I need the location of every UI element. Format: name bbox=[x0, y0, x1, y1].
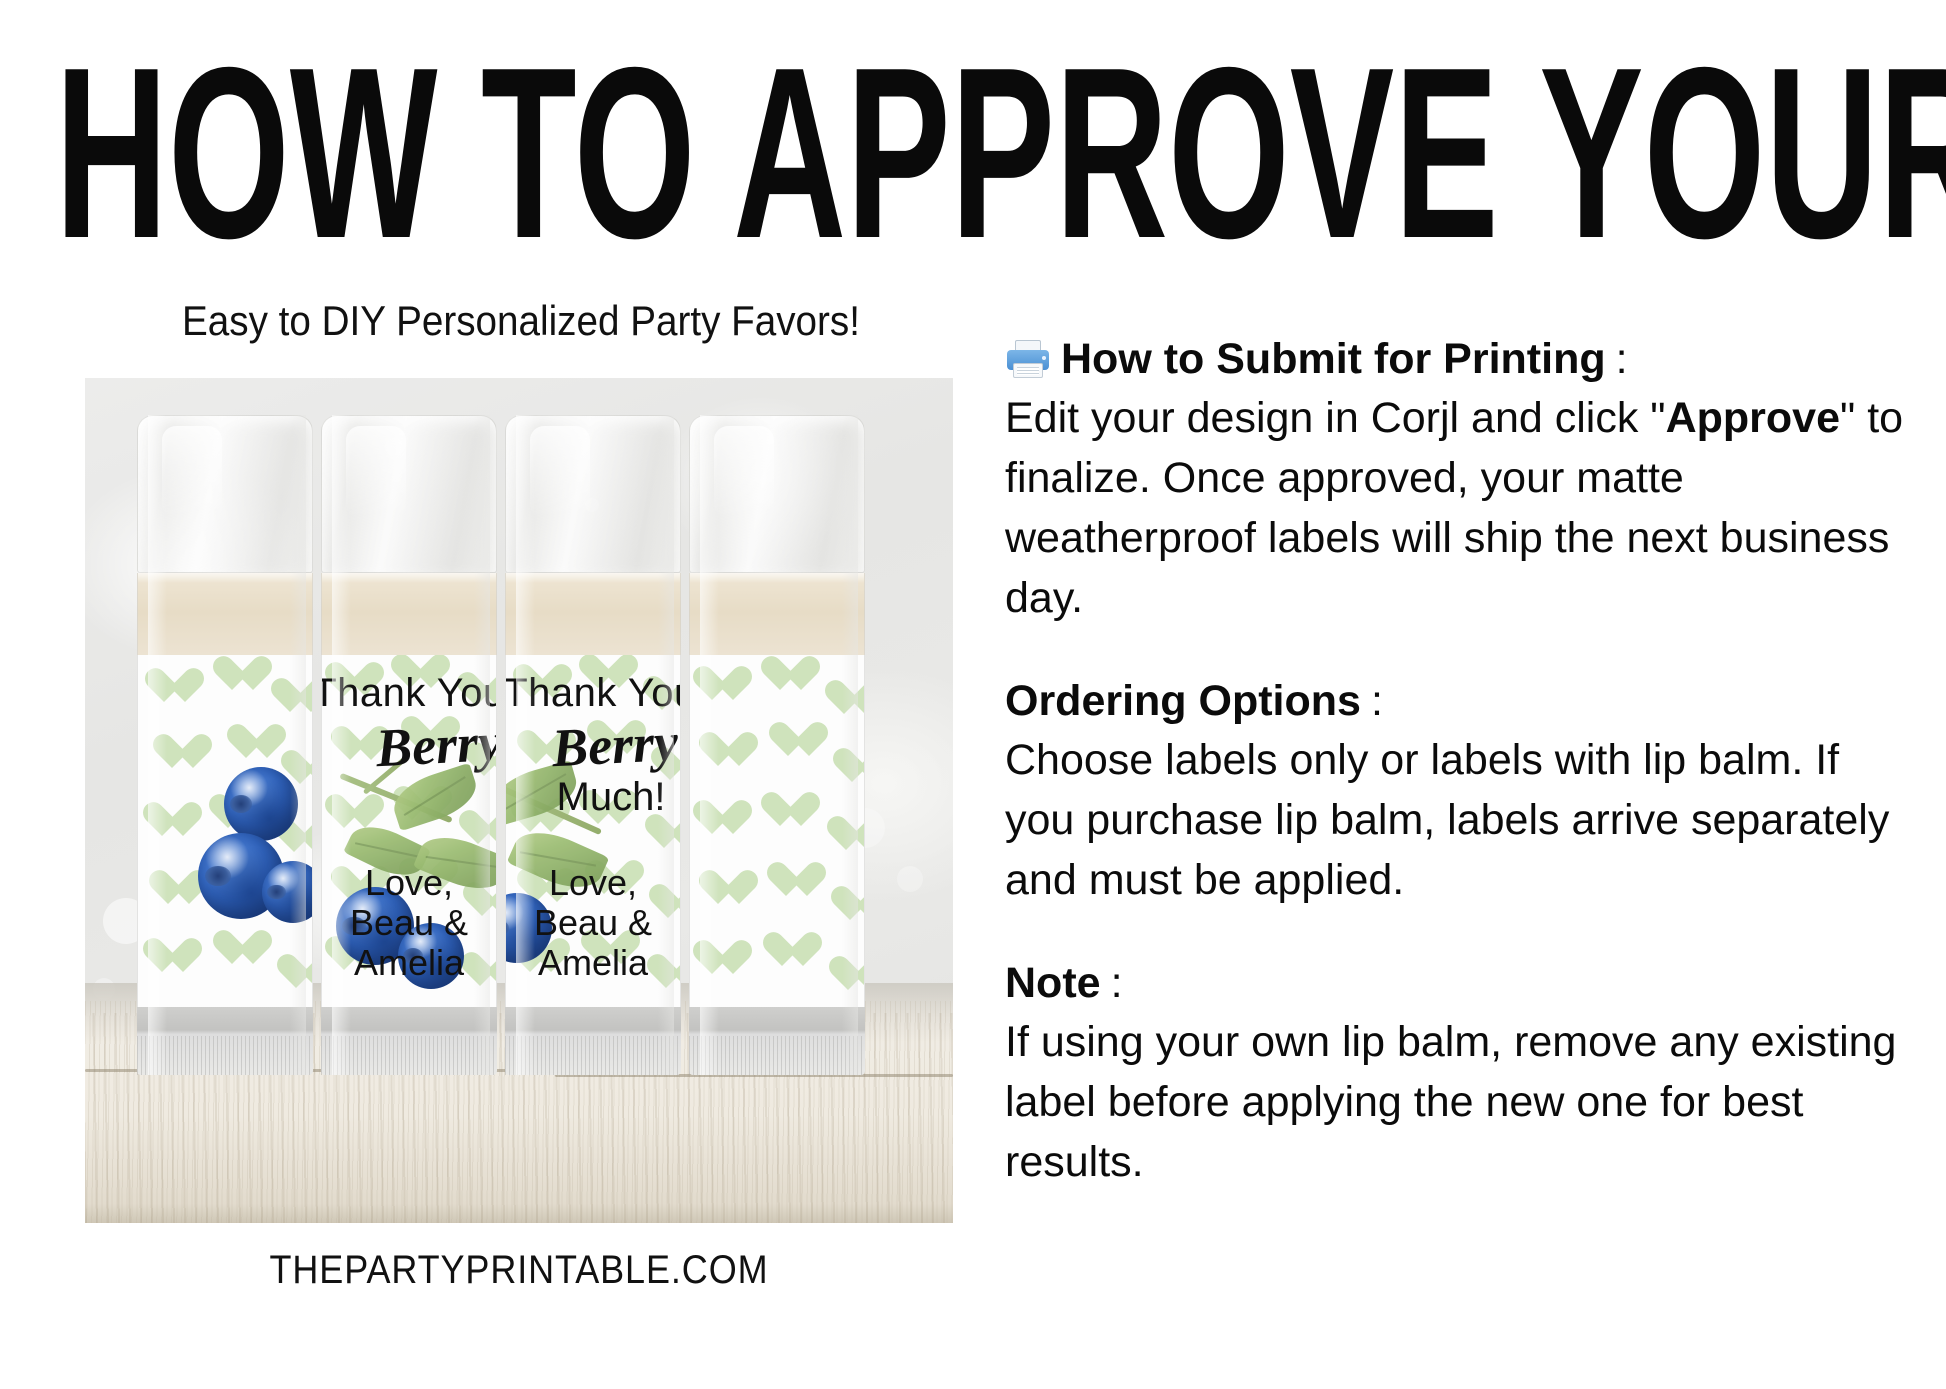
tube-label: Thank You Berry Love, Beau & Amelia bbox=[321, 655, 497, 1007]
balm-stick bbox=[321, 573, 497, 655]
lip-balm-tube bbox=[689, 415, 865, 1075]
lip-balm-tube: Thank You Berry Much! Love, Beau & Ameli… bbox=[505, 415, 681, 1075]
section-heading-text: How to Submit for Printing bbox=[1061, 330, 1606, 388]
label-berry: Berry bbox=[551, 714, 680, 777]
label-signature: Love, Beau & Amelia bbox=[322, 863, 496, 983]
body-text-bold: Approve bbox=[1666, 394, 1840, 442]
tube-label: Thank You Berry Much! Love, Beau & Ameli… bbox=[505, 655, 681, 1007]
label-text-block: Thank You Berry Much! Love, Beau & Ameli… bbox=[506, 655, 680, 1007]
poster-canvas: HOW TO APPROVE YOUR EDIT Easy to DIY Per… bbox=[0, 0, 1946, 1389]
section-note: Note: If using your own lip balm, remove… bbox=[1005, 954, 1910, 1192]
body-text-pre: Choose labels only or labels with lip ba… bbox=[1005, 736, 1889, 904]
label-thank-you: Thank You bbox=[505, 671, 681, 715]
section-heading-colon: : bbox=[1371, 672, 1383, 730]
section-body: If using your own lip balm, remove any e… bbox=[1005, 1012, 1910, 1192]
section-body: Choose labels only or labels with lip ba… bbox=[1005, 730, 1910, 910]
section-heading: Note: bbox=[1005, 954, 1910, 1012]
lip-balm-tube bbox=[137, 415, 313, 1075]
section-ordering-options: Ordering Options: Choose labels only or … bbox=[1005, 672, 1910, 910]
tube-base bbox=[505, 1007, 681, 1075]
label-signature: Love, Beau & Amelia bbox=[506, 863, 680, 983]
tube-base bbox=[689, 1007, 865, 1075]
section-heading: Ordering Options: bbox=[1005, 672, 1910, 730]
tube-cap bbox=[321, 415, 497, 573]
tube-cap bbox=[137, 415, 313, 573]
tube-base bbox=[137, 1007, 313, 1075]
tube-label bbox=[689, 655, 865, 1007]
lip-balm-tube: Thank You Berry Love, Beau & Amelia bbox=[321, 415, 497, 1075]
section-submit-for-printing: How to Submit for Printing: Edit your de… bbox=[1005, 330, 1910, 628]
instructions-column: How to Submit for Printing: Edit your de… bbox=[1005, 330, 1910, 1236]
photo-caption: Easy to DIY Personalized Party Favors! bbox=[120, 295, 922, 347]
section-heading-colon: : bbox=[1616, 330, 1628, 388]
label-text-block: Thank You Berry Love, Beau & Amelia bbox=[322, 655, 496, 1007]
balm-stick bbox=[505, 573, 681, 655]
website-footer: THEPARTYPRINTABLE.COM bbox=[128, 1248, 909, 1293]
section-heading-text: Ordering Options bbox=[1005, 672, 1361, 730]
label-thank-you: Thank You bbox=[321, 671, 497, 715]
tube-cap bbox=[689, 415, 865, 573]
label-berry: Berry bbox=[375, 714, 497, 777]
tube-label bbox=[137, 655, 313, 1007]
label-much: Much! bbox=[557, 775, 666, 819]
section-heading: How to Submit for Printing: bbox=[1005, 330, 1910, 388]
balm-stick bbox=[689, 573, 865, 655]
section-heading-colon: : bbox=[1111, 954, 1123, 1012]
section-body: Edit your design in Corjl and click "App… bbox=[1005, 388, 1910, 628]
body-text-pre: Edit your design in Corjl and click " bbox=[1005, 394, 1666, 442]
tube-base bbox=[321, 1007, 497, 1075]
tube-cap bbox=[505, 415, 681, 573]
printer-icon bbox=[1005, 339, 1051, 379]
section-heading-text: Note bbox=[1005, 954, 1101, 1012]
balm-stick bbox=[137, 573, 313, 655]
product-photo: Thank You Berry Love, Beau & Amelia bbox=[85, 378, 953, 1223]
body-text-pre: If using your own lip balm, remove any e… bbox=[1005, 1018, 1896, 1186]
left-column: Easy to DIY Personalized Party Favors! bbox=[0, 0, 980, 1389]
